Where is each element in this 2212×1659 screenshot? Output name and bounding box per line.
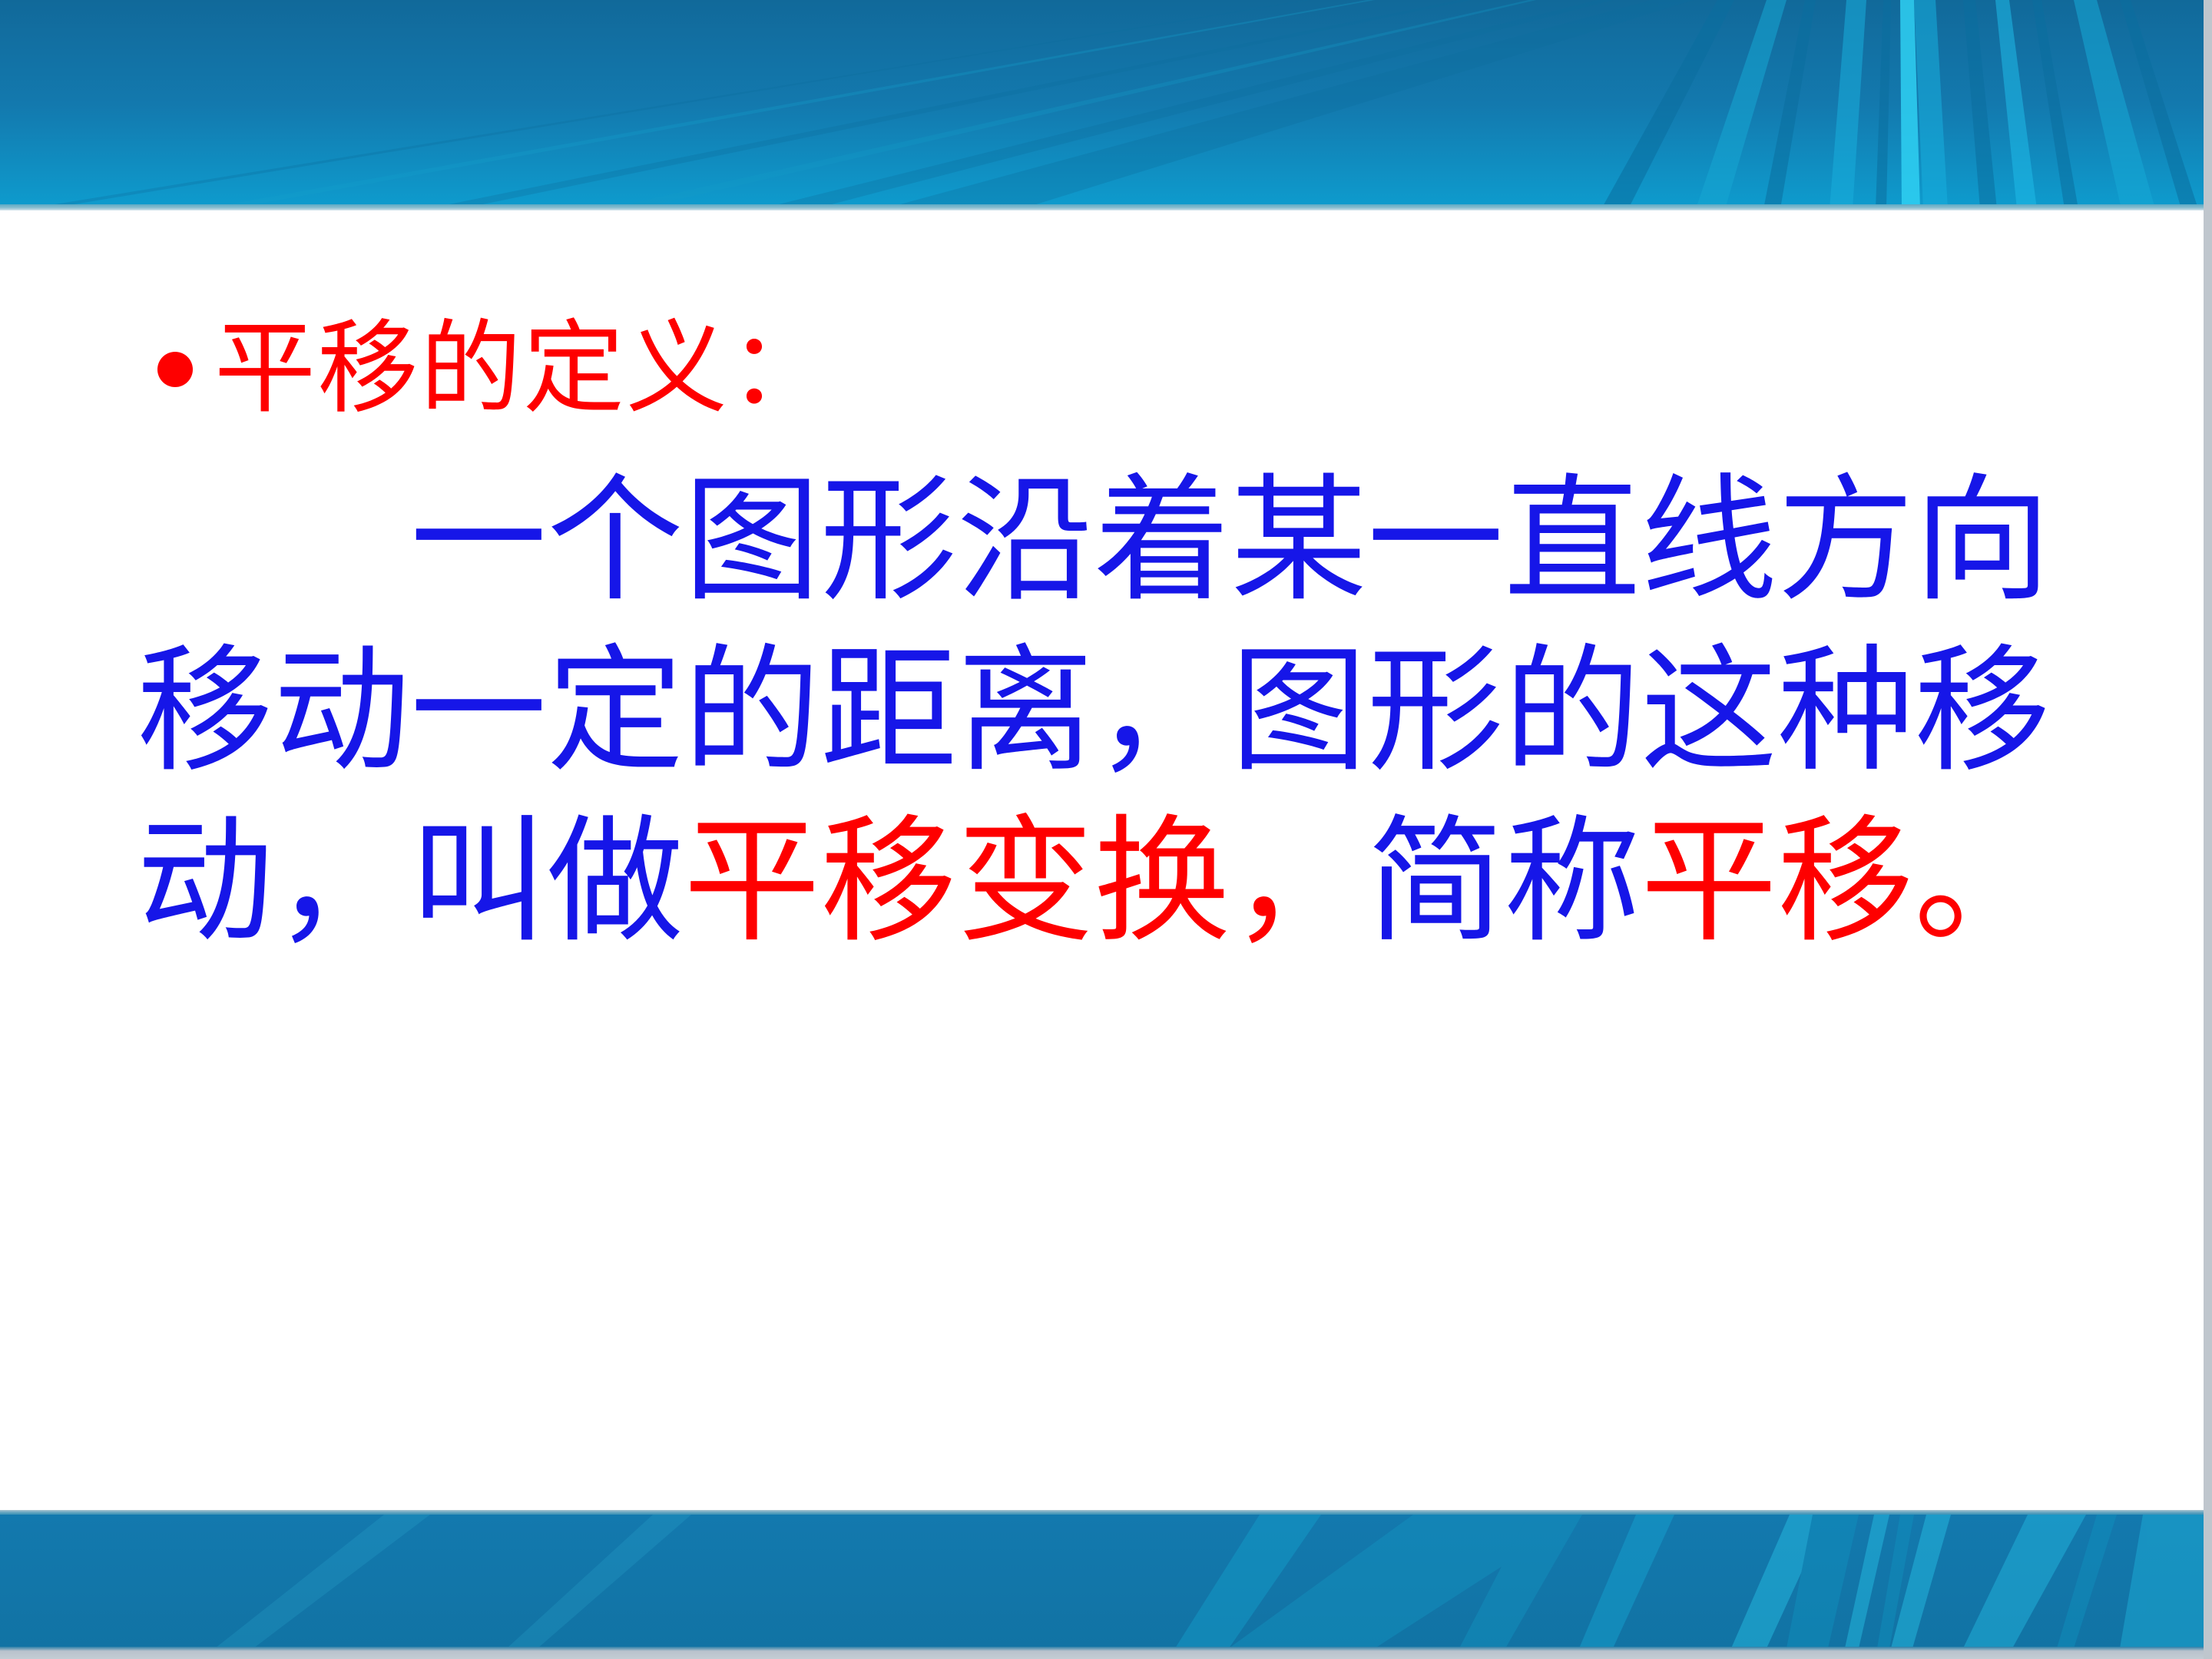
bottom-banner-rays-icon (0, 1515, 2212, 1648)
right-edge-strip (2204, 0, 2212, 1659)
slide-title: 平移的定义： (157, 316, 832, 423)
top-banner-rays-icon (0, 0, 2212, 209)
paragraph-line-3: 动，叫做平移变换，简称平移。 (137, 797, 2103, 968)
line1-segment-1: 一个图形沿着某一直线方向 (410, 465, 2051, 618)
bottom-strip (0, 1647, 2212, 1659)
paragraph-line-1: 一个图形沿着某一直线方向 (137, 456, 2103, 627)
bottom-banner-decoration (0, 1515, 2212, 1648)
line3-highlight-pingyi-bianhuan: 平移变换， (684, 806, 1367, 959)
slide-canvas: 平移的定义： 一个图形沿着某一直线方向 移动一定的距离，图形的这种移 动，叫做平… (0, 0, 2212, 1659)
title-text: 平移的定义： (214, 316, 832, 423)
line3-segment-1: 动，叫做 (137, 806, 684, 959)
line2-segment-1: 移动一定的距离，图形的这种移 (137, 636, 2051, 788)
definition-paragraph: 一个图形沿着某一直线方向 移动一定的距离，图形的这种移 动，叫做平移变换，简称平… (137, 456, 2103, 968)
title-bullet-icon (157, 352, 193, 387)
line3-highlight-pingyi: 平移。 (1641, 806, 2051, 959)
top-banner-decoration (0, 0, 2212, 209)
slide-content-area: 平移的定义： 一个图形沿着某一直线方向 移动一定的距离，图形的这种移 动，叫做平… (0, 209, 2212, 1510)
line3-segment-3: 简称 (1367, 806, 1641, 959)
paragraph-line-2: 移动一定的距离，图形的这种移 (137, 627, 2103, 797)
